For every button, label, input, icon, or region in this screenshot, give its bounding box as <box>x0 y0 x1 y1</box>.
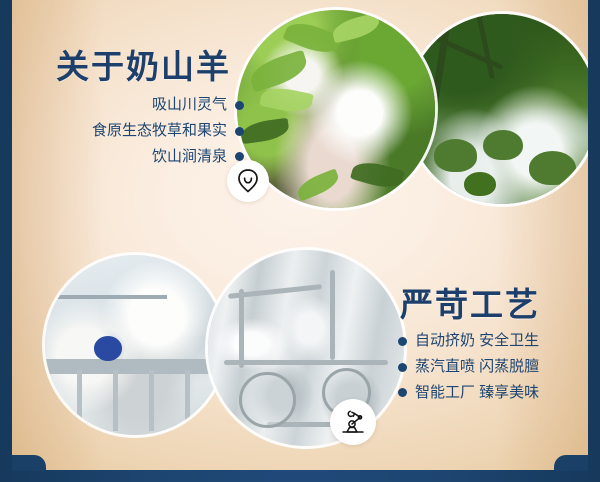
goat-face-badge <box>227 160 269 202</box>
beige-panel: 关于奶山羊 吸山川灵气 食原生态牧草和果实 饮山涧清泉 <box>12 0 588 470</box>
robot-arm-icon <box>339 408 367 436</box>
section-heading-about: 关于奶山羊 <box>56 50 231 83</box>
photo-milking-parlor <box>45 255 225 435</box>
list-item: 食原生态牧草和果实 <box>22 122 244 141</box>
robot-arm-badge <box>330 399 376 445</box>
bullet-text: 自动挤奶 安全卫生 <box>415 332 539 351</box>
list-item: 吸山川灵气 <box>22 96 244 115</box>
section-heading-craft: 严苛工艺 <box>400 288 540 321</box>
bullet-dot-icon <box>398 363 407 372</box>
bullet-text: 饮山涧清泉 <box>152 148 227 167</box>
list-item: 自动挤奶 安全卫生 <box>398 332 588 351</box>
list-item: 蒸汽直喷 闪蒸脱膻 <box>398 358 588 377</box>
bullet-dot-icon <box>235 101 244 110</box>
goat-face-icon <box>235 168 261 194</box>
bullet-dot-icon <box>398 388 407 397</box>
bullet-text: 吸山川灵气 <box>152 96 227 115</box>
bullet-text: 蒸汽直喷 闪蒸脱膻 <box>415 358 539 377</box>
panel-bottom-notch <box>12 455 588 471</box>
bullet-dot-icon <box>235 127 244 136</box>
bullet-list-about: 吸山川灵气 食原生态牧草和果实 饮山涧清泉 <box>22 96 244 173</box>
bullet-dot-icon <box>398 337 407 346</box>
list-item: 饮山涧清泉 <box>22 148 244 167</box>
bullet-list-craft: 自动挤奶 安全卫生 蒸汽直喷 闪蒸脱膻 智能工厂 臻享美味 <box>398 332 588 409</box>
photo-milking-parlor-image <box>45 255 225 435</box>
list-item: 智能工厂 臻享美味 <box>398 384 588 403</box>
infographic-poster: 关于奶山羊 吸山川灵气 食原生态牧草和果实 饮山涧清泉 <box>0 0 600 482</box>
bullet-text: 智能工厂 臻享美味 <box>415 384 539 403</box>
bullet-text: 食原生态牧草和果实 <box>92 122 227 141</box>
